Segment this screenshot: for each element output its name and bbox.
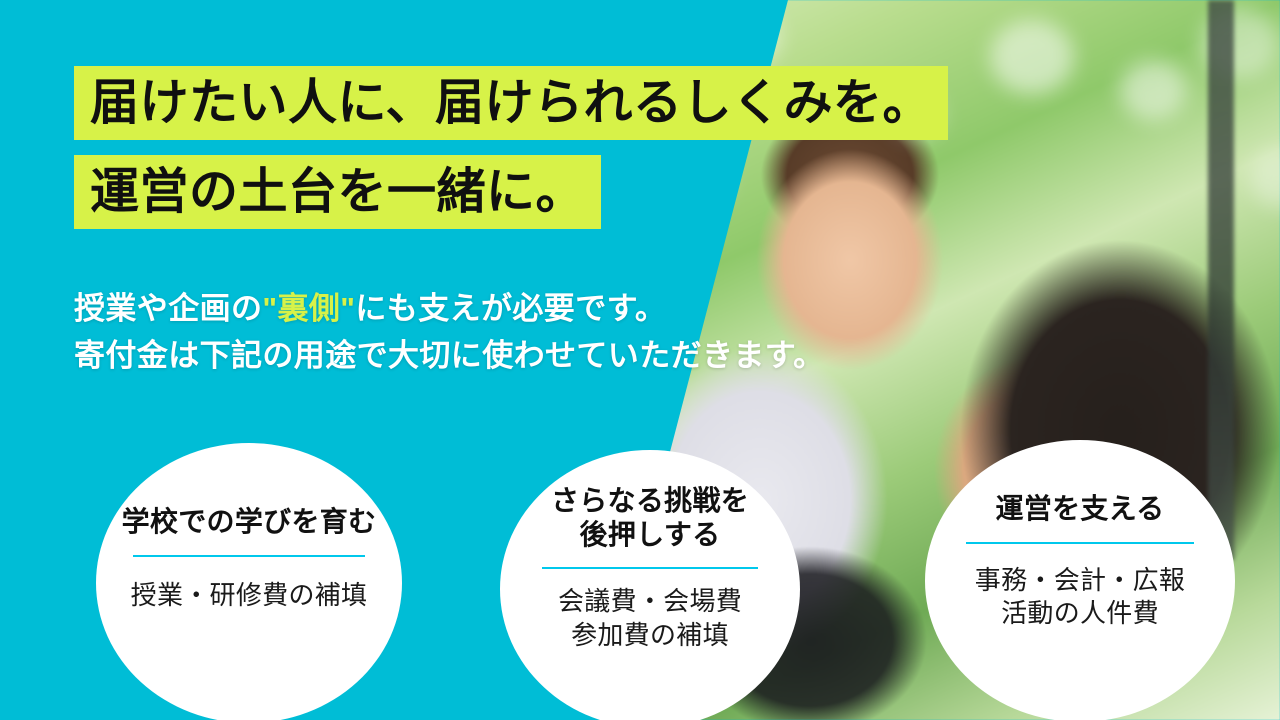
card-school-learning: 学校での学びを育む 授業・研修費の補填 [96,443,402,720]
subtitle-line-1: 授業や企画の"裏側"にも支えが必要です。 [74,285,825,332]
bokeh-blob [710,6,780,68]
card-body-line-1: 会議費・会場費 [558,585,742,618]
subtitle: 授業や企画の"裏側"にも支えが必要です。 寄付金は下記の用途で大切に使わせていた… [74,285,825,379]
card-divider [133,555,365,557]
window-frame [1208,0,1234,560]
card-body-line-1: 事務・会計・広報 [975,564,1185,597]
card-new-challenges: さらなる挑戦を 後押しする 会議費・会場費 参加費の補填 [500,450,800,720]
card-body: 事務・会計・広報 活動の人件費 [975,564,1185,631]
headline-line-2: 運営の土台を一緒に。 [74,155,601,229]
headline: 届けたい人に、届けられるしくみを。 運営の土台を一緒に。 [74,66,948,229]
card-divider [966,542,1194,544]
subtitle-highlight: "裏側" [262,291,355,326]
bokeh-blob [1250,150,1280,208]
card-operations-support: 運営を支える 事務・会計・広報 活動の人件費 [925,440,1235,720]
card-body: 授業・研修費の補填 [131,579,368,612]
slide-canvas: 届けたい人に、届けられるしくみを。 運営の土台を一緒に。 授業や企画の"裏側"に… [0,0,1280,720]
subtitle-line-1-before: 授業や企画の [74,291,262,326]
bokeh-blob [1120,60,1186,120]
bokeh-blob [990,20,1074,94]
headline-line-1: 届けたい人に、届けられるしくみを。 [74,66,948,140]
subtitle-line-2: 寄付金は下記の用途で大切に使わせていただきます。 [74,332,825,379]
card-title-line-1: さらなる挑戦を [551,484,749,518]
card-title: 学校での学びを育む [122,505,377,539]
card-body: 会議費・会場費 参加費の補填 [558,585,742,652]
card-title-line-2: 後押しする [551,518,749,552]
card-divider [542,567,758,569]
card-title: さらなる挑戦を 後押しする [551,484,749,552]
card-body-line-2: 活動の人件費 [975,597,1185,630]
card-body-line-2: 参加費の補填 [558,619,742,652]
subtitle-line-1-after: にも支えが必要です。 [355,291,666,326]
card-title: 運営を支える [996,492,1165,526]
